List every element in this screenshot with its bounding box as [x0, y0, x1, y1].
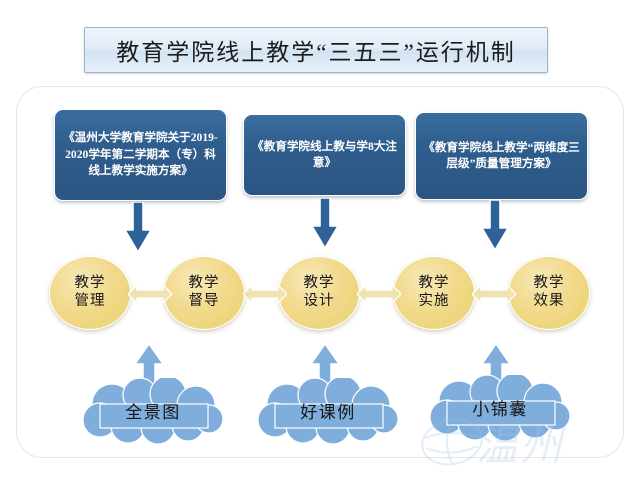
cloud-label: 好课例 [253, 398, 403, 423]
document-box-label: 《教育学院线上教学“两维度三层级”质量管理方案》 [416, 140, 587, 173]
document-box-label: 《教育学院线上教与学8大注意》 [244, 139, 405, 172]
stage-ellipse-teaching-supervision[interactable]: 教学督导 [163, 256, 245, 330]
document-box-label: 《温州大学教育学院关于2019-2020学年第二学期本（专）科线上教学实施方案》 [55, 130, 226, 179]
document-box-eight-notes[interactable]: 《教育学院线上教与学8大注意》 [243, 114, 406, 196]
stage-label: 教学督导 [189, 275, 220, 310]
page-title: 教育学院线上教学“三五三”运行机制 [116, 33, 515, 67]
stage-ellipse-teaching-design[interactable]: 教学设计 [278, 256, 360, 330]
stage-ellipse-teaching-implementation[interactable]: 教学实施 [393, 256, 475, 330]
cloud-label: 小锦囊 [425, 395, 575, 420]
stage-ellipse-teaching-management[interactable]: 教学管理 [49, 256, 131, 330]
cloud-shape-good-lesson[interactable]: 好课例 [253, 378, 403, 444]
bidirectional-arrow-icon [128, 281, 172, 307]
down-arrow-icon [481, 200, 509, 252]
cloud-shape-panorama[interactable]: 全景图 [78, 378, 228, 444]
cloud-label: 全景图 [78, 398, 228, 423]
stage-label: 教学管理 [75, 275, 106, 310]
document-box-quality-management[interactable]: 《教育学院线上教学“两维度三层级”质量管理方案》 [415, 112, 588, 200]
down-arrow-icon [124, 202, 152, 254]
diagram-title-box: 教育学院线上教学“三五三”运行机制 [84, 27, 548, 73]
stage-label: 教学效果 [534, 275, 565, 310]
stage-label: 教学实施 [419, 275, 450, 310]
down-arrow-icon [311, 198, 339, 250]
stage-label: 教学设计 [304, 275, 335, 310]
bidirectional-arrow-icon [243, 281, 287, 307]
document-box-implementation-plan[interactable]: 《温州大学教育学院关于2019-2020学年第二学期本（专）科线上教学实施方案》 [54, 109, 227, 201]
bidirectional-arrow-icon [472, 281, 516, 307]
cloud-shape-tips[interactable]: 小锦囊 [425, 375, 575, 441]
stage-ellipse-teaching-effect[interactable]: 教学效果 [508, 256, 590, 330]
bidirectional-arrow-icon [357, 281, 401, 307]
diagram-canvas: 教育学院线上教学“三五三”运行机制 《温州大学教育学院关于2019-2020学年… [0, 0, 640, 480]
